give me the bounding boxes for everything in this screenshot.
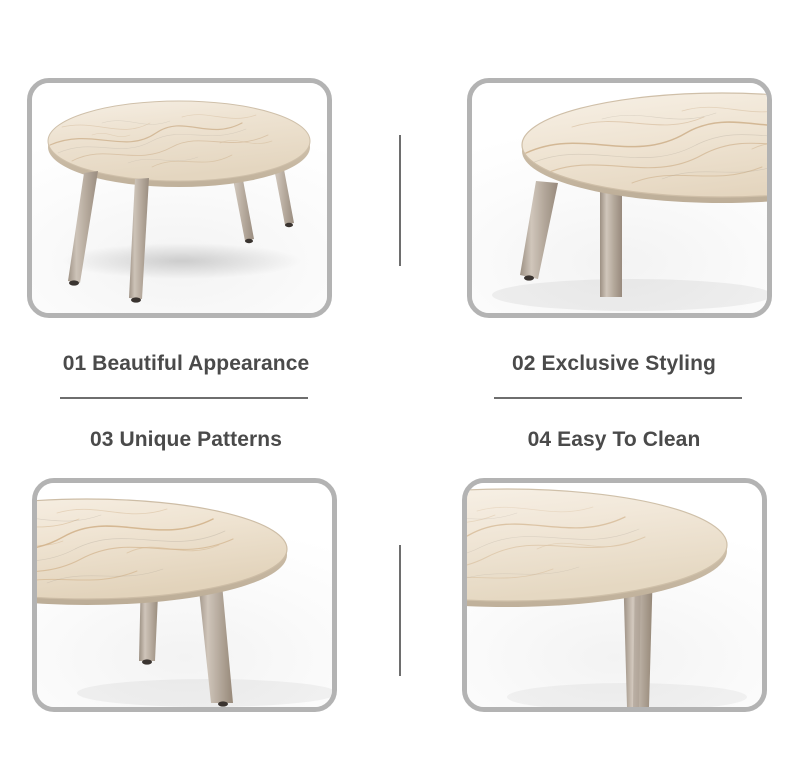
product-photo-03 [37,483,332,707]
horizontal-rule-right [494,397,742,399]
feature-image-frame-01 [27,78,332,318]
table-illustration-surface [467,483,762,707]
product-photo-01 [32,83,327,313]
feature-caption-03: 03 Unique Patterns [0,428,372,452]
table-illustration-closeup-end [472,83,767,313]
vertical-divider-bottom [399,545,401,676]
feature-image-frame-04 [462,478,767,712]
feature-image-frame-03 [32,478,337,712]
feature-caption-04: 04 Easy To Clean [428,428,800,452]
table-illustration-pattern [37,483,332,707]
feature-grid-page: 01 Beautiful Appearance 02 Exclusive Sty… [0,0,800,774]
vertical-divider-top [399,135,401,266]
feature-caption-01: 01 Beautiful Appearance [0,352,372,376]
product-photo-02 [472,83,767,313]
table-illustration-full [32,83,327,313]
feature-image-frame-02 [467,78,772,318]
horizontal-rule-left [60,397,308,399]
feature-caption-02: 02 Exclusive Styling [428,352,800,376]
product-photo-04 [467,483,762,707]
